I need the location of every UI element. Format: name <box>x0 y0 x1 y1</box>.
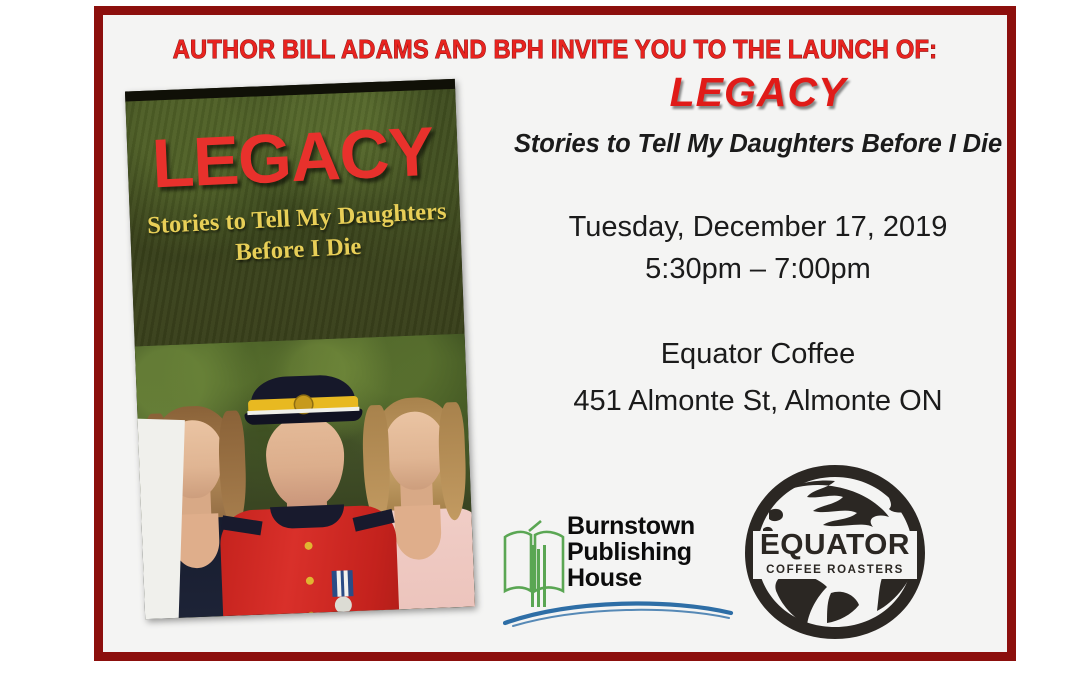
event-title: LEGACY <box>503 69 1013 116</box>
poster-canvas: AUTHOR BILL ADAMS AND BPH INVITE YOU TO … <box>103 15 1007 652</box>
burnstown-publishing-house-logo: Burnstown Publishing House <box>501 505 736 625</box>
cover-edge-highlight <box>125 418 185 619</box>
tunic-button <box>304 542 312 550</box>
publisher-line-1: Burnstown <box>567 513 695 539</box>
event-subtitle: Stories to Tell My Daughters Before I Di… <box>503 130 1013 159</box>
publisher-line-3: House <box>567 565 695 591</box>
medal-disc <box>334 596 352 614</box>
poster-frame: AUTHOR BILL ADAMS AND BPH INVITE YOU TO … <box>94 6 1016 661</box>
event-address: 451 Almonte St, Almonte ON <box>503 385 1013 418</box>
swoosh-icon <box>503 597 738 627</box>
open-book-icon <box>501 515 567 607</box>
book-cover-image: LEGACY Stories to Tell My Daughters Befo… <box>125 77 495 622</box>
cover-title: LEGACY <box>126 118 459 198</box>
event-poster: AUTHOR BILL ADAMS AND BPH INVITE YOU TO … <box>0 0 1080 675</box>
face <box>264 414 345 509</box>
event-details: LEGACY Stories to Tell My Daughters Befo… <box>503 69 1013 418</box>
poster-headline: AUTHOR BILL ADAMS AND BPH INVITE YOU TO … <box>135 36 976 65</box>
medal-ribbon <box>331 570 353 597</box>
event-venue: Equator Coffee <box>503 338 1013 371</box>
equator-coffee-roasters-logo: EQUATOR COFFEE ROASTERS <box>739 459 931 645</box>
cover-photograph: Bill Adams <box>135 334 475 619</box>
globe-icon <box>739 459 931 645</box>
event-time: 5:30pm – 7:00pm <box>503 253 1013 286</box>
tunic-button <box>307 612 315 620</box>
event-date: Tuesday, December 17, 2019 <box>503 211 1013 244</box>
tunic-button <box>305 577 313 585</box>
publisher-line-2: Publishing <box>567 539 695 565</box>
publisher-name: Burnstown Publishing House <box>567 513 695 591</box>
book-cover: LEGACY Stories to Tell My Daughters Befo… <box>125 79 475 619</box>
